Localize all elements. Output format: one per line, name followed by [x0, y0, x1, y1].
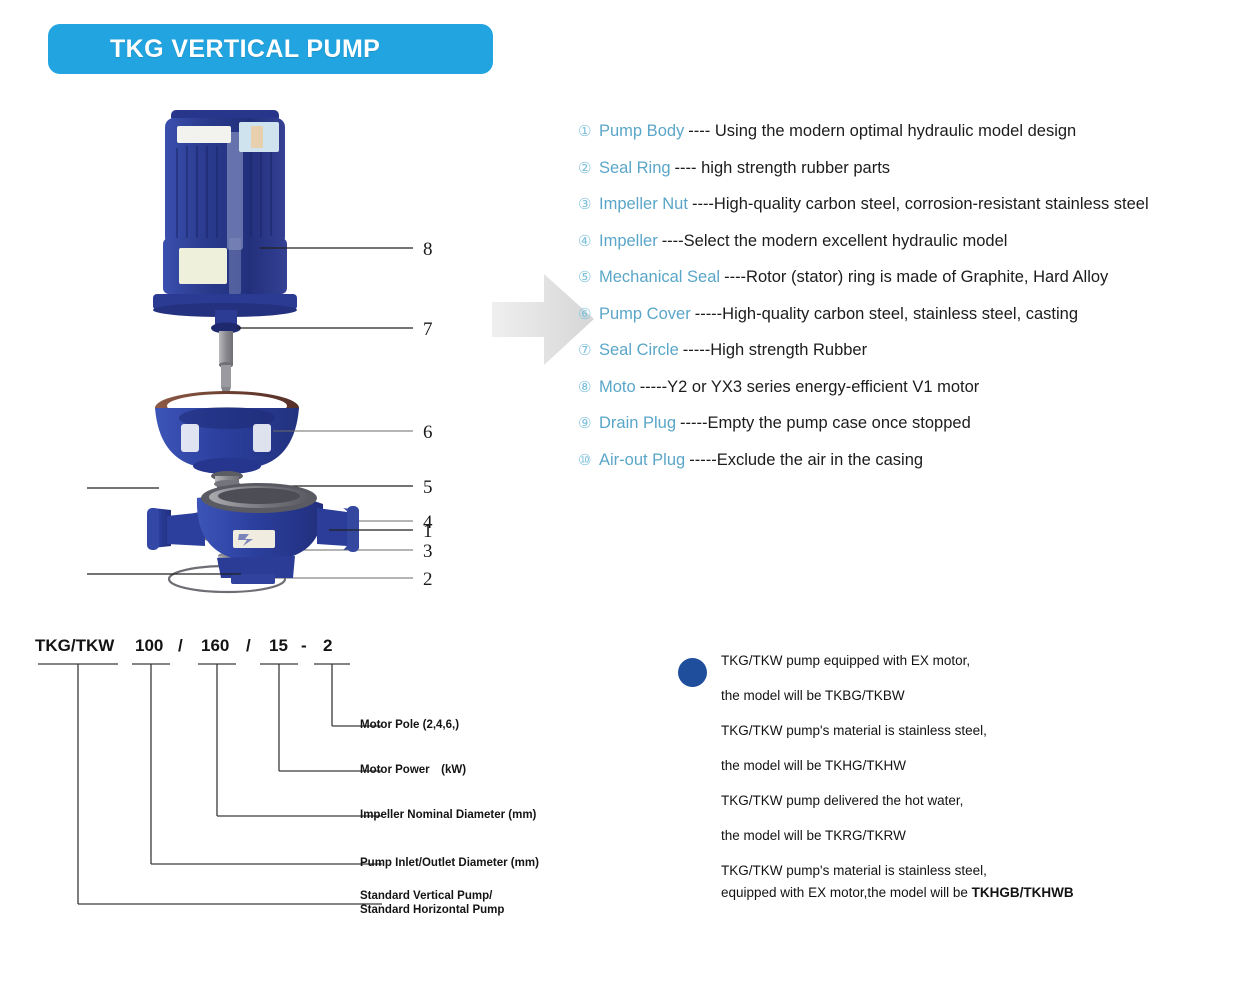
note-final-model: TKHGB/TKHWB [972, 885, 1074, 900]
nomenclature-label-impeller-diameter: Impeller Nominal Diameter (mm) [360, 809, 536, 823]
legend-part-name: Seal Circle [599, 341, 679, 360]
nomenclature-label-motor-power: Motor Power (kW) [360, 764, 466, 778]
callout-label-7: 7 [423, 319, 433, 340]
legend-item: ② Seal Ring ---- high strength rubber pa… [578, 159, 1228, 196]
legend-part-desc: -----High-quality carbon steel, stainles… [695, 305, 1078, 324]
legend-part-name: Air-out Plug [599, 451, 685, 470]
legend-item: ④ Impeller ----Select the modern excelle… [578, 232, 1228, 269]
note-line: TKG/TKW pump equipped with EX motor, [678, 652, 1218, 687]
legend-part-desc: ----High-quality carbon steel, corrosion… [692, 195, 1149, 214]
legend-number-icon: ③ [578, 195, 599, 213]
callout-label-8: 8 [423, 239, 433, 260]
legend-part-name: Moto [599, 378, 636, 397]
legend-number-icon: ④ [578, 232, 599, 250]
note-final-prefix: equipped with EX motor,the model will be [721, 885, 972, 900]
legend-item: ① Pump Body ---- Using the modern optima… [578, 122, 1228, 159]
callout-label-1: 1 [423, 521, 433, 542]
note-line: TKG/TKW pump delivered the hot water, [678, 792, 1218, 827]
legend-part-name: Pump Cover [599, 305, 691, 324]
legend-part-name: Mechanical Seal [599, 268, 720, 287]
note-line-final: equipped with EX motor,the model will be… [678, 884, 1218, 919]
legend-part-desc: ---- Using the modern optimal hydraulic … [688, 122, 1076, 141]
page-title-banner: TKG VERTICAL PUMP [48, 24, 493, 74]
legend-item: ⑩ Air-out Plug -----Exclude the air in t… [578, 451, 1228, 488]
legend-part-name: Impeller Nut [599, 195, 688, 214]
legend-item: ⑥ Pump Cover -----High-quality carbon st… [578, 305, 1228, 342]
legend-number-icon: ⑥ [578, 305, 599, 323]
legend-number-icon: ② [578, 159, 599, 177]
legend-part-desc: ----Select the modern excellent hydrauli… [662, 232, 1008, 251]
pump-type-line-2: Standard Horizontal Pump [360, 904, 504, 916]
legend-item: ⑦ Seal Circle -----High strength Rubber [578, 341, 1228, 378]
legend-part-desc: -----High strength Rubber [683, 341, 867, 360]
legend-part-desc: -----Exclude the air in the casing [689, 451, 923, 470]
note-line: TKG/TKW pump's material is stainless ste… [678, 862, 1218, 884]
model-nomenclature: TKG/TKW 100 160 15 2 / / - [30, 636, 630, 966]
pump-type-line-1: Standard Vertical Pump/ [360, 890, 492, 902]
legend-number-icon: ① [578, 122, 599, 140]
legend-number-icon: ⑤ [578, 268, 599, 286]
note-line: the model will be TKRG/TKRW [678, 827, 1218, 862]
model-variant-notes: TKG/TKW pump equipped with EX motor, the… [678, 652, 1218, 919]
note-line: the model will be TKBG/TKBW [678, 687, 1218, 722]
legend-part-desc: ----Rotor (stator) ring is made of Graph… [724, 268, 1108, 287]
legend-number-icon: ⑦ [578, 341, 599, 359]
part-pump-body [147, 483, 359, 584]
legend-part-desc: ---- high strength rubber parts [675, 159, 891, 178]
legend-part-name: Impeller [599, 232, 658, 251]
nomenclature-label-inlet-outlet-diameter: Pump Inlet/Outlet Diameter (mm) [360, 857, 539, 871]
pump-body-callouts: 1 10 9 [55, 468, 485, 608]
legend-number-icon: ⑩ [578, 451, 599, 469]
legend-item: ⑧ Moto -----Y2 or YX3 series energy-effi… [578, 378, 1228, 415]
legend-number-icon: ⑨ [578, 414, 599, 432]
legend-part-desc: -----Y2 or YX3 series energy-efficient V… [640, 378, 980, 397]
legend-item: ⑤ Mechanical Seal ----Rotor (stator) rin… [578, 268, 1228, 305]
note-line: the model will be TKHG/TKHW [678, 757, 1218, 792]
legend-part-name: Pump Body [599, 122, 684, 141]
parts-legend-list: ① Pump Body ---- Using the modern optima… [578, 122, 1228, 487]
legend-item: ③ Impeller Nut ----High-quality carbon s… [578, 195, 1228, 232]
legend-item: ⑨ Drain Plug -----Empty the pump case on… [578, 414, 1228, 451]
bullet-dot-icon [678, 658, 707, 687]
page-title: TKG VERTICAL PUMP [48, 35, 380, 64]
nomenclature-leader-lines [30, 636, 630, 966]
legend-number-icon: ⑧ [578, 378, 599, 396]
nomenclature-label-pump-type: Standard Vertical Pump/ Standard Horizon… [360, 890, 504, 917]
legend-part-name: Drain Plug [599, 414, 676, 433]
callout-label-6: 6 [423, 422, 433, 443]
nomenclature-label-motor-pole: Motor Pole (2,4,6,) [360, 719, 459, 733]
legend-part-desc: -----Empty the pump case once stopped [680, 414, 971, 433]
legend-part-name: Seal Ring [599, 159, 671, 178]
note-line: TKG/TKW pump's material is stainless ste… [678, 722, 1218, 757]
